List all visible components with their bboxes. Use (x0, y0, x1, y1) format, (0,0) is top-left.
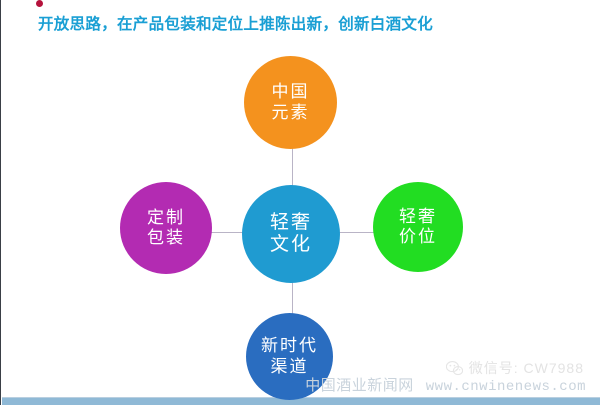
center-node-label-line2: 文化 (270, 234, 312, 256)
top-node-label-line1: 中国 (272, 82, 310, 102)
top-node[interactable]: 中国 元素 (244, 56, 337, 149)
right-node[interactable]: 轻奢 价位 (373, 182, 463, 272)
right-node-label-line1: 轻奢 (399, 207, 437, 227)
right-node-label-line2: 价位 (399, 227, 437, 247)
center-node-label-line1: 轻奢 (270, 212, 312, 234)
left-node-label-line2: 包装 (147, 228, 185, 248)
slide-canvas: 开放思路，在产品包装和定位上推陈出新，创新白酒文化 中国 元素 定制 包装 轻奢… (0, 0, 600, 405)
footer-site-name: 中国酒业新闻网 (305, 374, 414, 395)
page-title: 开放思路，在产品包装和定位上推陈出新，创新白酒文化 (38, 12, 578, 34)
bottom-node-label-line1: 新时代 (261, 336, 318, 356)
left-node[interactable]: 定制 包装 (120, 182, 212, 274)
footer: 中国酒业新闻网 www.cnwinenews.com (305, 374, 586, 395)
top-node-label-line2: 元素 (272, 103, 310, 123)
hub-and-spoke-diagram: 中国 元素 定制 包装 轻奢 价位 新时代 渠道 轻奢 文化 (1, 40, 600, 380)
bullet-marker-icon (36, 0, 43, 7)
left-node-label-line1: 定制 (147, 208, 185, 228)
bottom-node-label-line2: 渠道 (271, 357, 309, 377)
center-node[interactable]: 轻奢 文化 (242, 185, 340, 283)
footer-site-url: www.cnwinenews.com (426, 379, 586, 395)
